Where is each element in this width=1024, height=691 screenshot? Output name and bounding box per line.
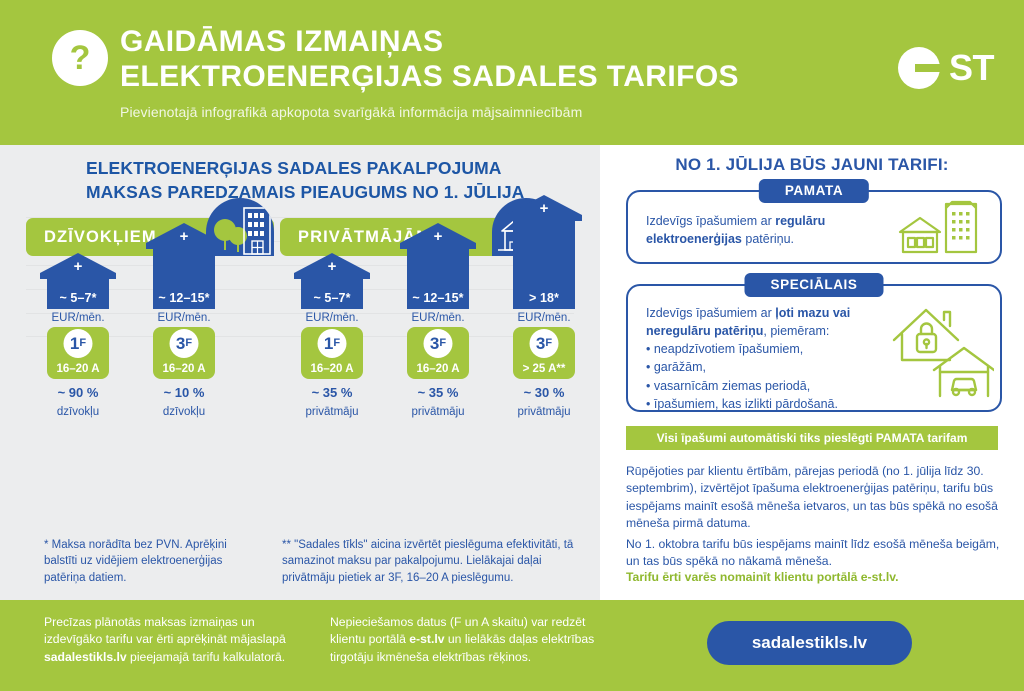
phase-badge: 1F bbox=[64, 329, 93, 358]
share-percent: ~ 35 % bbox=[294, 385, 370, 401]
connection-chip: 3F > 25 A** bbox=[513, 327, 575, 379]
transition-paragraph-2: No 1. oktobra tarifu būs iespējams mainī… bbox=[626, 536, 1004, 571]
plus-icon: + bbox=[540, 201, 549, 216]
connection-chip: 3F 16–20 A bbox=[407, 327, 469, 379]
plus-icon: + bbox=[328, 259, 337, 274]
bar-houses-3f-20a: + ~ 12–15* EUR/mēn. 3F 16–20 A ~ 35 % pr… bbox=[400, 223, 476, 420]
connection-chip: 1F 16–20 A bbox=[47, 327, 109, 379]
amp-label: 16–20 A bbox=[153, 363, 215, 375]
phase-badge: 3F bbox=[424, 329, 453, 358]
bar-unit-label: EUR/mēn. bbox=[40, 312, 116, 324]
house-lock-garage-car-icon bbox=[888, 298, 994, 407]
phase-count: 1 bbox=[70, 335, 79, 352]
phase-unit: F bbox=[185, 338, 192, 349]
house-bar: + ~ 5–7* bbox=[40, 253, 116, 309]
share-unit: dzīvokļu bbox=[163, 406, 205, 418]
portal-note: Tarifu ērti varēs nomainīt klientu portā… bbox=[626, 569, 1004, 586]
text-part: Izdevīgs īpašumiem ar bbox=[646, 306, 775, 320]
house-bar-body: + ~ 12–15* bbox=[407, 249, 469, 309]
share-percent: ~ 35 % bbox=[400, 385, 476, 401]
page-title: GAIDĀMAS IZMAIŅAS ELEKTROENERĢIJAS SADAL… bbox=[120, 24, 739, 95]
bar-value-label: ~ 12–15* bbox=[158, 291, 209, 305]
phase-count: 1 bbox=[324, 335, 333, 352]
amp-label: 16–20 A bbox=[47, 363, 109, 375]
bar-unit-label: EUR/mēn. bbox=[506, 312, 582, 324]
question-mark-icon: ? bbox=[52, 30, 108, 86]
page-title-line1: GAIDĀMAS IZMAIŅAS bbox=[120, 24, 739, 59]
phase-badge: 3F bbox=[170, 329, 199, 358]
left-panel: ELEKTROENERĢIJAS SADALES PAKALPOJUMA MAK… bbox=[0, 145, 600, 600]
phase-count: 3 bbox=[430, 335, 439, 352]
share-unit: privātmāju bbox=[411, 406, 464, 418]
house-bar-body: + > 18* bbox=[513, 221, 575, 309]
house-bar-body: + ~ 5–7* bbox=[47, 279, 109, 309]
house-bar: + ~ 5–7* bbox=[294, 253, 370, 309]
transition-paragraph-1: Rūpējoties par klientu ērtībām, pārejas … bbox=[626, 463, 1004, 532]
right-panel-title: NO 1. JŪLIJA BŪS JAUNI TARIFI: bbox=[600, 155, 1024, 175]
phase-unit: F bbox=[79, 338, 86, 349]
house-bar: + ~ 12–15* bbox=[400, 223, 476, 309]
brand-logo-text: ST bbox=[949, 50, 994, 86]
house-bar: + ~ 12–15* bbox=[146, 223, 222, 309]
text-part-bold: sadalestikls.lv bbox=[44, 650, 127, 664]
amp-label: > 25 A** bbox=[513, 363, 575, 375]
share-label: ~ 35 % privātmāju bbox=[294, 385, 370, 420]
phase-badge: 3F bbox=[530, 329, 559, 358]
text-part-bold: e-st.lv bbox=[409, 632, 444, 646]
tariff-card-specialais: SPECIĀLAIS Izdevīgs īpašumiem ar ļoti ma… bbox=[626, 284, 1002, 412]
bar-houses-1f: + ~ 5–7* EUR/mēn. 1F 16–20 A ~ 35 % priv… bbox=[294, 253, 370, 420]
share-unit: privātmāju bbox=[305, 406, 358, 418]
phase-count: 3 bbox=[176, 335, 185, 352]
phase-unit: F bbox=[333, 338, 340, 349]
tariff-card-specialais-text: Izdevīgs īpašumiem ar ļoti mazu vai nere… bbox=[646, 304, 896, 413]
text-part: pieejamajā tarifu kalkulatorā. bbox=[127, 650, 286, 664]
bar-value-label: ~ 5–7* bbox=[59, 291, 96, 305]
category-apartments-label: DZĪVOKĻIEM bbox=[44, 218, 157, 256]
plus-icon: + bbox=[434, 229, 443, 244]
footer-text-data: Nepieciešamos datus (F un A skaitu) var … bbox=[330, 614, 600, 666]
plus-icon: + bbox=[180, 229, 189, 244]
house-bar-body: + ~ 5–7* bbox=[301, 279, 363, 309]
st-circle-logo-icon bbox=[897, 46, 941, 90]
connection-chip: 1F 16–20 A bbox=[301, 327, 363, 379]
header-banner: ? GAIDĀMAS IZMAIŅAS ELEKTROENERĢIJAS SAD… bbox=[0, 0, 1024, 145]
plus-icon: + bbox=[74, 259, 83, 274]
text-part: patēriņu. bbox=[742, 232, 794, 246]
bar-houses-3f-25a: + > 18* EUR/mēn. 3F > 25 A** ~ 30 % priv… bbox=[506, 195, 582, 420]
house-bar-body: + ~ 12–15* bbox=[153, 249, 215, 309]
share-label: ~ 35 % privātmāju bbox=[400, 385, 476, 420]
share-percent: ~ 30 % bbox=[506, 385, 582, 401]
page-subtitle: Pievienotajā infografikā apkopota svarīg… bbox=[120, 104, 582, 120]
page-title-line2: ELEKTROENERĢIJAS SADALES TARIFOS bbox=[120, 59, 739, 94]
bar-unit-label: EUR/mēn. bbox=[400, 312, 476, 324]
share-unit: dzīvokļu bbox=[57, 406, 99, 418]
buildings-green-icon bbox=[894, 200, 990, 261]
bullet-item: • īpašumiem, kas izlikti pārdošanā. bbox=[646, 395, 896, 413]
footer-text-calculator: Precīzas plānotās maksas izmaiņas un izd… bbox=[44, 614, 309, 666]
bullet-item: • garāžām, bbox=[646, 358, 896, 376]
text-part: Precīzas plānotās maksas izmaiņas un izd… bbox=[44, 615, 286, 646]
share-label: ~ 10 % dzīvokļu bbox=[146, 385, 222, 420]
share-percent: ~ 10 % bbox=[146, 385, 222, 401]
tariff-card-pamata: PAMATA Izdevīgs īpašumiem ar regulāru el… bbox=[626, 190, 1002, 264]
text-part: , piemēram: bbox=[763, 324, 829, 338]
bar-unit-label: EUR/mēn. bbox=[294, 312, 370, 324]
footnote-vat: * Maksa norādīta bez PVN. Aprēķini balst… bbox=[44, 537, 234, 586]
amp-label: 16–20 A bbox=[407, 363, 469, 375]
share-label: ~ 90 % dzīvokļu bbox=[40, 385, 116, 420]
bar-apartments-1f: + ~ 5–7* EUR/mēn. 1F 16–20 A ~ 90 % dzīv… bbox=[40, 253, 116, 420]
bar-apartments-3f: + ~ 12–15* EUR/mēn. 3F 16–20 A ~ 10 % dz… bbox=[146, 223, 222, 420]
share-unit: privātmāju bbox=[517, 406, 570, 418]
right-panel: NO 1. JŪLIJA BŪS JAUNI TARIFI: PAMATA Iz… bbox=[600, 145, 1024, 600]
left-panel-title-line1: ELEKTROENERĢIJAS SADALES PAKALPOJUMA bbox=[86, 156, 586, 180]
amp-label: 16–20 A bbox=[301, 363, 363, 375]
share-percent: ~ 90 % bbox=[40, 385, 116, 401]
house-bar: + > 18* bbox=[506, 195, 582, 309]
bullet-item: • vasarnīcām ziemas periodā, bbox=[646, 377, 896, 395]
text-part: Izdevīgs īpašumiem ar bbox=[646, 214, 775, 228]
bullet-item: • neapdzīvotiem īpašumiem, bbox=[646, 340, 896, 358]
website-button[interactable]: sadalestikls.lv bbox=[707, 621, 912, 665]
infographic-page: ? GAIDĀMAS IZMAIŅAS ELEKTROENERĢIJAS SAD… bbox=[0, 0, 1024, 691]
tariff-card-specialais-tab: SPECIĀLAIS bbox=[744, 273, 883, 297]
footnote-efficiency: ** "Sadales tīkls" aicina izvērtēt piesl… bbox=[282, 537, 582, 586]
auto-assignment-banner: Visi īpašumi automātiski tiks pieslēgti … bbox=[626, 426, 998, 450]
phase-badge: 1F bbox=[318, 329, 347, 358]
phase-count: 3 bbox=[536, 335, 545, 352]
phase-unit: F bbox=[439, 338, 446, 349]
brand-logo: ST bbox=[897, 46, 994, 90]
share-label: ~ 30 % privātmāju bbox=[506, 385, 582, 420]
tariff-card-pamata-text: Izdevīgs īpašumiem ar regulāru elektroen… bbox=[646, 212, 896, 248]
tariff-card-pamata-tab: PAMATA bbox=[759, 179, 869, 203]
bar-value-label: > 18* bbox=[529, 291, 559, 305]
phase-unit: F bbox=[545, 338, 552, 349]
connection-chip: 3F 16–20 A bbox=[153, 327, 215, 379]
bar-unit-label: EUR/mēn. bbox=[146, 312, 222, 324]
bar-value-label: ~ 5–7* bbox=[313, 291, 350, 305]
bar-value-label: ~ 12–15* bbox=[412, 291, 463, 305]
